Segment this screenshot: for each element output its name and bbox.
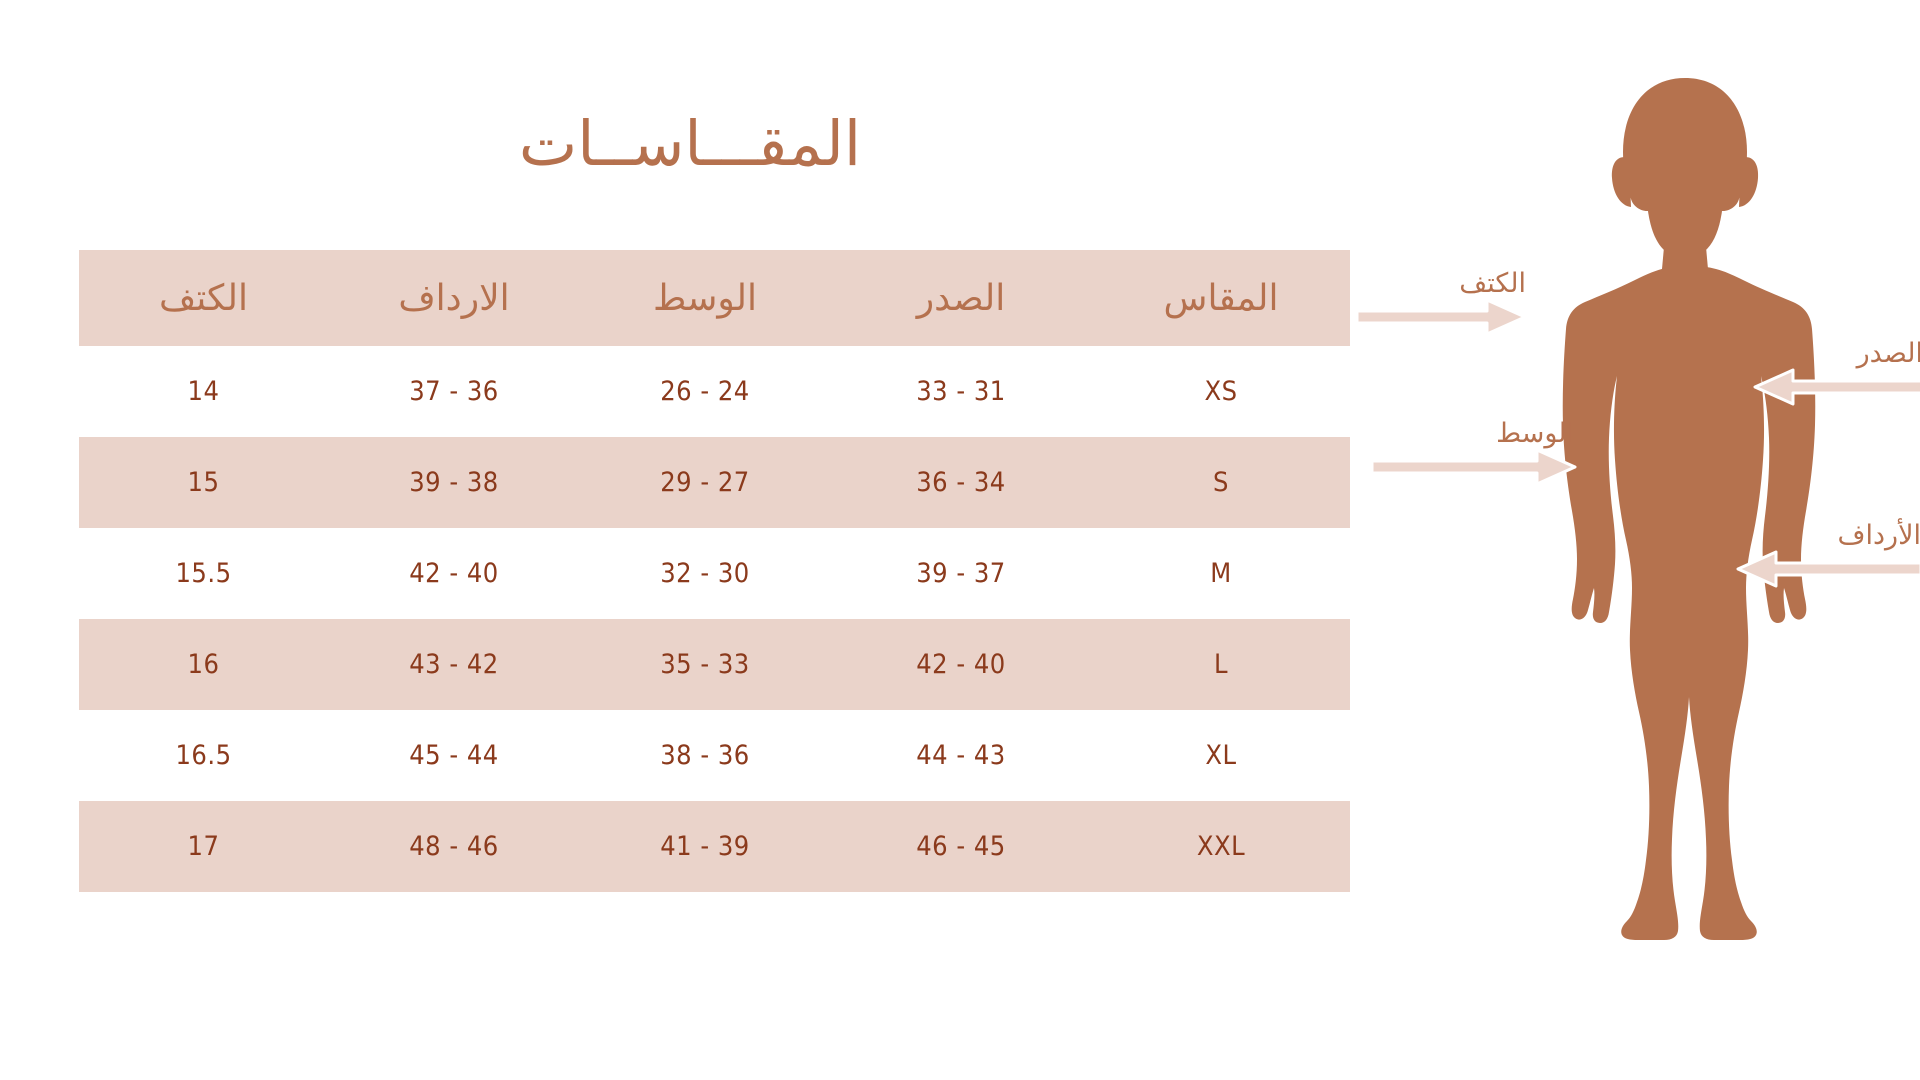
table-header-row: المقاس الصدر الوسط الارداف الكتف [79,250,1350,346]
page-title: المقـــاســات [0,108,1380,179]
cell-shoulder: 16 [79,619,328,710]
cell-chest: 37 - 39 [830,528,1092,619]
cell-size: S [1092,437,1350,528]
cell-hips: 36 - 37 [328,346,580,437]
cell-shoulder: 14 [79,346,328,437]
annotation-hips-label: الأرداف [1718,522,1920,549]
table-row: XL 43 - 44 36 - 38 44 - 45 16.5 [79,710,1350,801]
cell-hips: 44 - 45 [328,710,580,801]
cell-size: XL [1092,710,1350,801]
arrow-right-icon [1370,447,1580,487]
table-header: المقاس الصدر الوسط الارداف الكتف [79,250,1350,346]
cell-chest: 45 - 46 [830,801,1092,892]
cell-waist: 27 - 29 [580,437,830,528]
cell-waist: 33 - 35 [580,619,830,710]
annotation-chest-label: الصدر [1735,340,1920,367]
cell-waist: 36 - 38 [580,710,830,801]
column-header-size: المقاس [1092,250,1350,346]
cell-hips: 40 - 42 [328,528,580,619]
cell-shoulder: 15 [79,437,328,528]
column-header-shoulder: الكتف [79,250,328,346]
cell-size: L [1092,619,1350,710]
cell-chest: 40 - 42 [830,619,1092,710]
cell-waist: 24 - 26 [580,346,830,437]
cell-shoulder: 16.5 [79,710,328,801]
cell-shoulder: 15.5 [79,528,328,619]
cell-chest: 34 - 36 [830,437,1092,528]
cell-size: M [1092,528,1350,619]
column-header-waist: الوسط [580,250,830,346]
table-row: L 40 - 42 33 - 35 42 - 43 16 [79,619,1350,710]
cell-chest: 31 - 33 [830,346,1092,437]
table-row: XS 31 - 33 24 - 26 36 - 37 14 [79,346,1350,437]
arrow-left-icon [1735,367,1920,407]
column-header-chest: الصدر [830,250,1092,346]
arrow-right-icon [1355,297,1530,337]
cell-hips: 42 - 43 [328,619,580,710]
table-row: XXL 45 - 46 39 - 41 46 - 48 17 [79,801,1350,892]
table-row: S 34 - 36 27 - 29 38 - 39 15 [79,437,1350,528]
column-header-hips: الارداف [328,250,580,346]
size-table: المقاس الصدر الوسط الارداف الكتف XS 31 -… [79,250,1350,892]
table-body: XS 31 - 33 24 - 26 36 - 37 14 S 34 - 36 … [79,346,1350,892]
annotation-shoulder: الكتف [1355,270,1530,337]
cell-waist: 30 - 32 [580,528,830,619]
cell-size: XXL [1092,801,1350,892]
arrow-left-icon [1718,549,1920,589]
size-chart-page: المقـــاســات المقاس الصدر الوسط الارداف… [0,0,1920,1080]
cell-hips: 38 - 39 [328,437,580,528]
annotation-waist-label: الوسط [1370,420,1580,447]
table-row: M 37 - 39 30 - 32 40 - 42 15.5 [79,528,1350,619]
cell-hips: 46 - 48 [328,801,580,892]
cell-shoulder: 17 [79,801,328,892]
cell-size: XS [1092,346,1350,437]
cell-chest: 43 - 44 [830,710,1092,801]
annotation-shoulder-label: الكتف [1355,270,1530,297]
cell-waist: 39 - 41 [580,801,830,892]
annotation-chest: الصدر [1735,340,1920,407]
annotation-waist: الوسط [1370,420,1580,487]
annotation-hips: الأرداف [1718,522,1920,589]
